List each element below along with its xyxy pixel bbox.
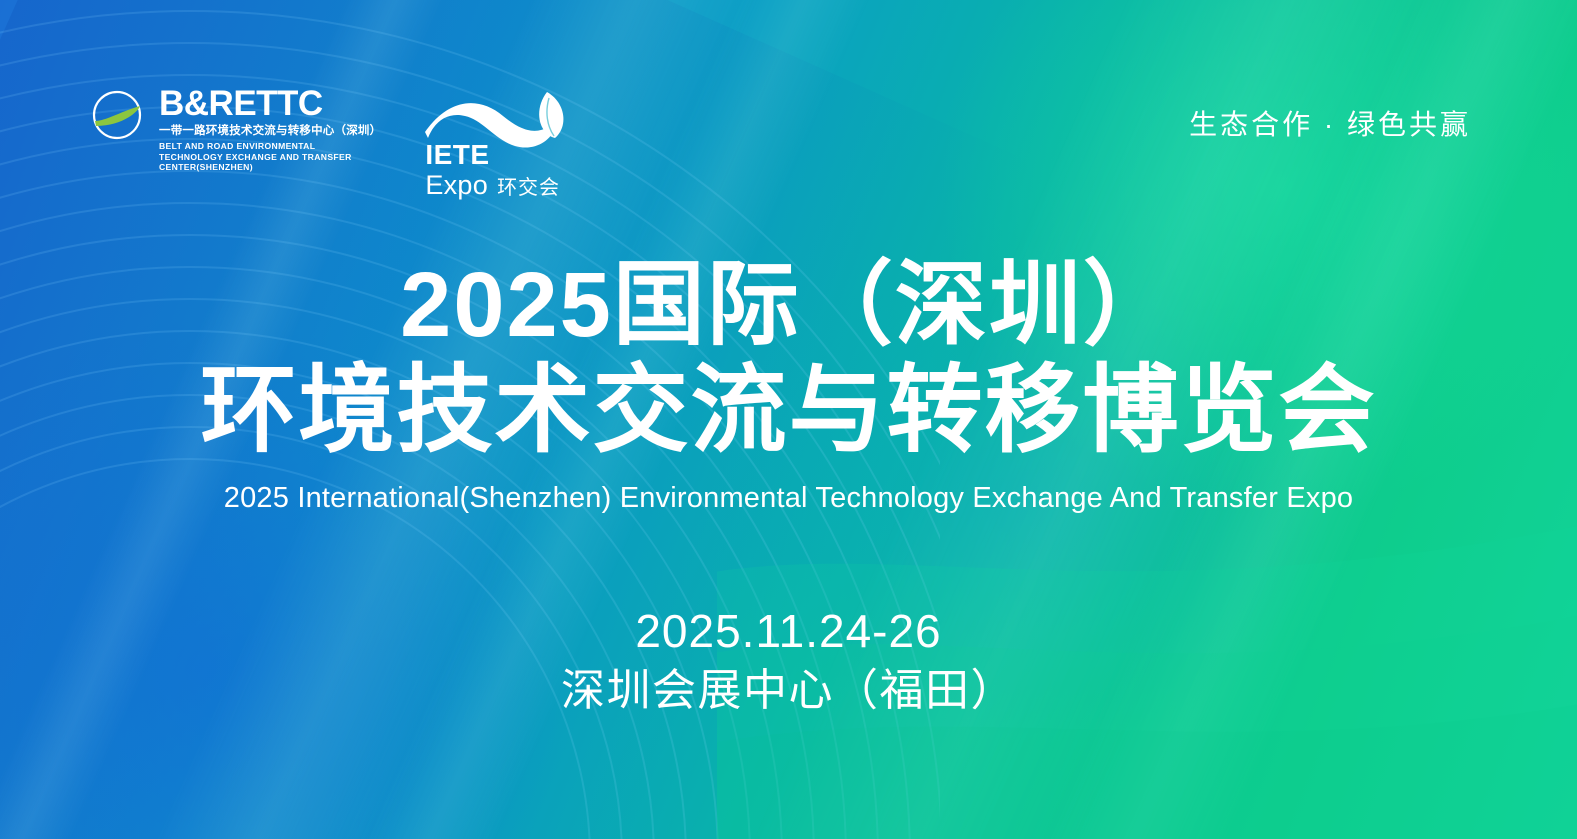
- iete-subline: Expo 环交会: [425, 170, 560, 203]
- event-banner: B&RETTC 一带一路环境技术交流与转移中心（深圳） BELT AND ROA…: [0, 0, 1577, 839]
- iete-acronym: IETE: [425, 140, 560, 170]
- event-venue: 深圳会展中心（福田）: [561, 663, 1016, 719]
- circle-leaf-icon: [88, 88, 150, 144]
- logo-group: B&RETTC 一带一路环境技术交流与转移中心（深圳） BELT AND ROA…: [88, 86, 588, 195]
- brettc-text-block: B&RETTC 一带一路环境技术交流与转移中心（深圳） BELT AND ROA…: [159, 86, 381, 173]
- banner-tagline: 生态合作 · 绿色共赢: [1189, 108, 1471, 142]
- iete-wordmark: IETE Expo 环交会: [425, 140, 560, 203]
- brettc-wordmark: B&RETTC: [159, 86, 381, 122]
- iete-expo-logo: IETE Expo 环交会: [423, 90, 588, 195]
- title-line-2: 环境技术交流与转移博览会: [201, 359, 1377, 463]
- iete-chinese-label: 环交会: [497, 173, 560, 203]
- iete-expo-label: Expo: [425, 170, 488, 200]
- brettc-logo: B&RETTC 一带一路环境技术交流与转移中心（深圳） BELT AND ROA…: [88, 86, 381, 173]
- brettc-english-name: BELT AND ROAD ENVIRONMENTAL TECHNOLOGY E…: [159, 141, 365, 173]
- brettc-english-line-2: TECHNOLOGY EXCHANGE AND TRANSFER: [159, 152, 365, 163]
- brettc-english-line-3: CENTER(SHENZHEN): [159, 162, 365, 173]
- title-line-1: 2025国际（深圳）: [400, 253, 1177, 357]
- banner-main-content: 2025国际（深圳） 环境技术交流与转移博览会 2025 Internation…: [0, 253, 1577, 719]
- banner-header: B&RETTC 一带一路环境技术交流与转移中心（深圳） BELT AND ROA…: [0, 86, 1577, 195]
- event-date: 2025.11.24-26: [635, 603, 941, 659]
- brettc-english-line-1: BELT AND ROAD ENVIRONMENTAL: [159, 141, 365, 152]
- brettc-chinese-name: 一带一路环境技术交流与转移中心（深圳）: [159, 124, 381, 139]
- english-subtitle: 2025 International(Shenzhen) Environment…: [224, 479, 1353, 517]
